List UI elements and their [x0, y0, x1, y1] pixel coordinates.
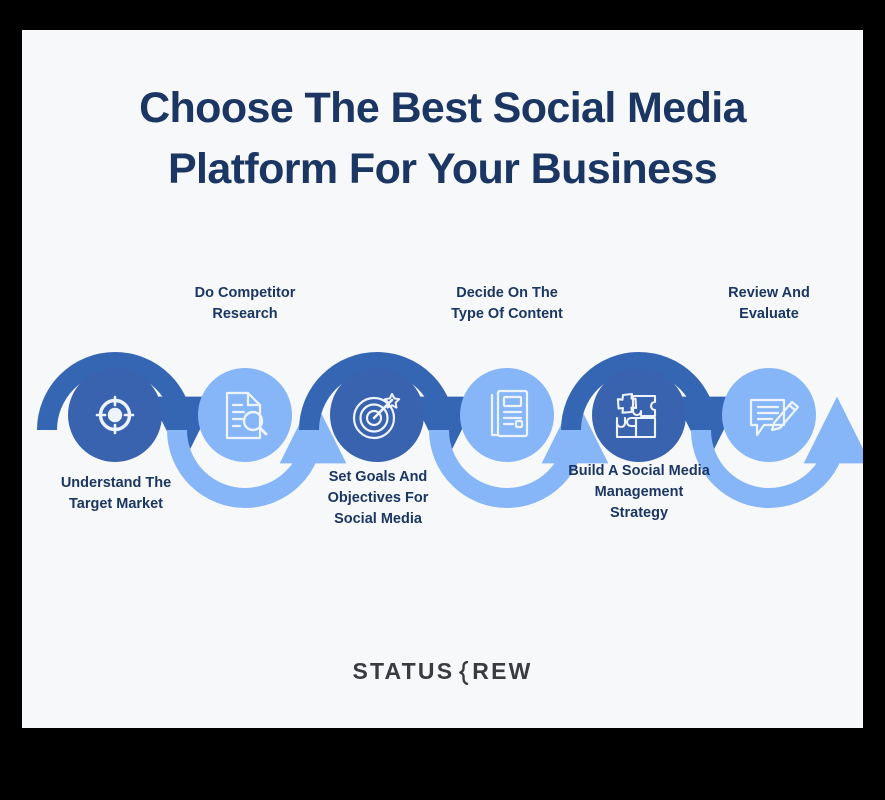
step-label-1: Understand The Target Market — [46, 473, 186, 515]
process-flow-diagram: Understand The Target Market Do Competit… — [22, 245, 863, 575]
flow-node-2[interactable] — [198, 368, 292, 462]
title-line-2: Platform For Your Business — [82, 139, 803, 200]
step-label-2: Do Competitor Research — [175, 283, 315, 325]
step-label-4: Decide On The Type Of Content — [434, 283, 580, 325]
flow-node-1[interactable] — [68, 368, 162, 462]
flow-circle-4 — [460, 368, 554, 462]
infographic-canvas: Choose The Best Social Media Platform Fo… — [22, 30, 863, 728]
flow-node-4[interactable] — [460, 368, 554, 462]
flow-circle-6 — [722, 368, 816, 462]
flow-node-5[interactable] — [592, 368, 686, 462]
title-line-1: Choose The Best Social Media — [82, 78, 803, 139]
page-title: Choose The Best Social Media Platform Fo… — [22, 78, 863, 200]
flow-node-6[interactable] — [722, 368, 816, 462]
footer-logo: STATUS REW — [22, 658, 863, 685]
step-label-3: Set Goals And Objectives For Social Medi… — [305, 467, 451, 530]
logo-text-right: REW — [472, 658, 532, 685]
step-label-5: Build A Social Media Management Strategy — [552, 461, 726, 524]
logo-text-left: STATUS — [352, 658, 454, 685]
step-label-6: Review And Evaluate — [699, 283, 839, 325]
flow-node-3[interactable] — [330, 368, 424, 462]
image-frame: Choose The Best Social Media Platform Fo… — [0, 0, 885, 800]
brew-b-mark-icon — [456, 661, 471, 685]
